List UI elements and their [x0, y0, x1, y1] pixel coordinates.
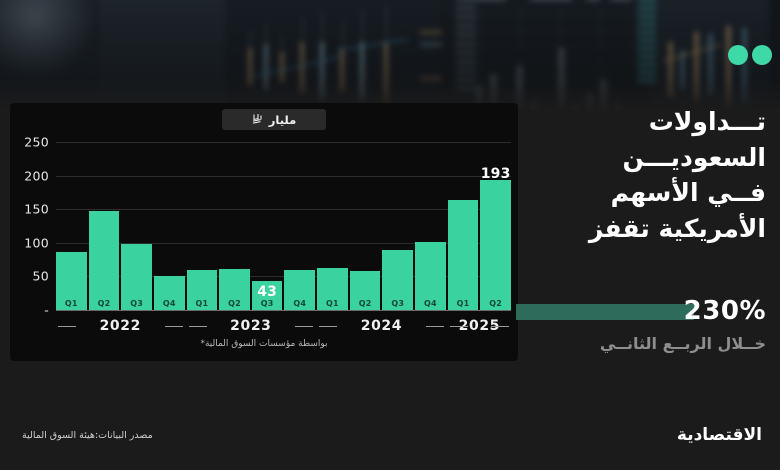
y-axis-tick-label: 150	[10, 202, 49, 217]
y-axis-tick-label: 200	[10, 168, 49, 183]
bar: Q4	[415, 242, 446, 310]
chart-bars: Q1Q2Q3Q4Q1Q2Q343Q4Q1Q2Q3Q4Q1Q2193	[56, 132, 511, 310]
bar-column: Q4	[284, 132, 315, 310]
bar-quarter-label: Q4	[284, 299, 315, 308]
bar-value-label: 43	[246, 284, 289, 300]
headline-subtitle: خــلال الربــع الثانــي	[516, 334, 766, 353]
bar-column: Q1	[187, 132, 218, 310]
bar-quarter-label: Q4	[415, 299, 446, 308]
y-axis-tick-label: -	[10, 303, 49, 318]
infographic-root: مليار -50100150200250 Q1Q2Q3Q4Q1Q2Q343Q4…	[0, 0, 780, 470]
bar: Q2	[480, 180, 511, 310]
bar-column: Q3	[121, 132, 152, 310]
chart-plot-area: -50100150200250 Q1Q2Q3Q4Q1Q2Q343Q4Q1Q2Q3…	[56, 132, 511, 310]
bar: Q1	[56, 252, 87, 310]
headline-line: السعوديـــن	[516, 140, 766, 176]
bar-quarter-label: Q3	[252, 299, 283, 308]
bar: Q3	[382, 250, 413, 310]
headline-line: فــي الأسهم	[516, 175, 766, 211]
bar-column: Q4	[415, 132, 446, 310]
saudi-riyal-symbol-icon	[252, 113, 264, 127]
bar-quarter-label: Q3	[121, 299, 152, 308]
bar-quarter-label: Q2	[350, 299, 381, 308]
accent-dot-1-icon	[728, 45, 748, 65]
percent-underline-bar	[516, 304, 694, 320]
year-label: 2025	[448, 315, 511, 337]
bar-column: Q4	[154, 132, 185, 310]
bar-quarter-label: Q2	[219, 299, 250, 308]
banner-image	[0, 0, 780, 110]
year-label: 2024	[317, 315, 446, 337]
bar-value-label: 193	[474, 166, 517, 182]
bar-quarter-label: Q1	[56, 299, 87, 308]
year-label: 2023	[187, 315, 316, 337]
bar-quarter-label: Q3	[382, 299, 413, 308]
headline-block: تـــداولاتالسعوديـــنفــي الأسهمالأمريكي…	[516, 104, 766, 246]
y-axis-tick-label: 100	[10, 235, 49, 250]
chart-caption: بواسطة مؤسسات السوق المالية*	[10, 339, 518, 349]
accent-dot-2-icon	[752, 45, 772, 65]
bar-quarter-label: Q1	[448, 299, 479, 308]
bar-quarter-label: Q1	[187, 299, 218, 308]
bar-column: Q1	[448, 132, 479, 310]
bar: Q2	[350, 271, 381, 310]
bar-column: Q3	[382, 132, 413, 310]
bar-column: Q343	[252, 132, 283, 310]
bar-column: Q1	[56, 132, 87, 310]
y-axis-tick-label: 250	[10, 135, 49, 150]
percent-value: 230%	[684, 296, 766, 326]
bar-quarter-label: Q2	[480, 299, 511, 308]
bar-column: Q2	[350, 132, 381, 310]
bar-quarter-label: Q1	[317, 299, 348, 308]
bar-quarter-label: Q4	[154, 299, 185, 308]
chart-unit-badge: مليار	[222, 109, 326, 130]
brand-logo: الاقتصادية	[677, 425, 762, 445]
bar: Q1	[317, 268, 348, 310]
bar: Q3	[121, 244, 152, 310]
chart-x-axis	[56, 310, 511, 311]
bar: Q2	[89, 211, 120, 310]
bar-quarter-label: Q2	[89, 299, 120, 308]
bar: Q4	[154, 276, 185, 310]
banner-overlay-gradient	[0, 0, 780, 110]
chart-year-axis: 2022202320242025	[56, 315, 511, 337]
headline-line: الأمريكية تقفز	[516, 211, 766, 247]
bar: Q1	[187, 270, 218, 310]
bar-column: Q2193	[480, 132, 511, 310]
bar-column: Q1	[317, 132, 348, 310]
chart-card: مليار -50100150200250 Q1Q2Q3Q4Q1Q2Q343Q4…	[10, 103, 518, 361]
bar-column: Q2	[89, 132, 120, 310]
unit-label: مليار	[269, 113, 296, 127]
data-source-note: مصدر البيانات:هيئة السوق المالية	[22, 430, 153, 441]
headline-line: تـــداولات	[516, 104, 766, 140]
bar: Q4	[284, 270, 315, 310]
y-axis-tick-label: 50	[10, 269, 49, 284]
bar: Q1	[448, 200, 479, 310]
year-label: 2022	[56, 315, 185, 337]
percent-highlight: 230%	[516, 298, 766, 325]
